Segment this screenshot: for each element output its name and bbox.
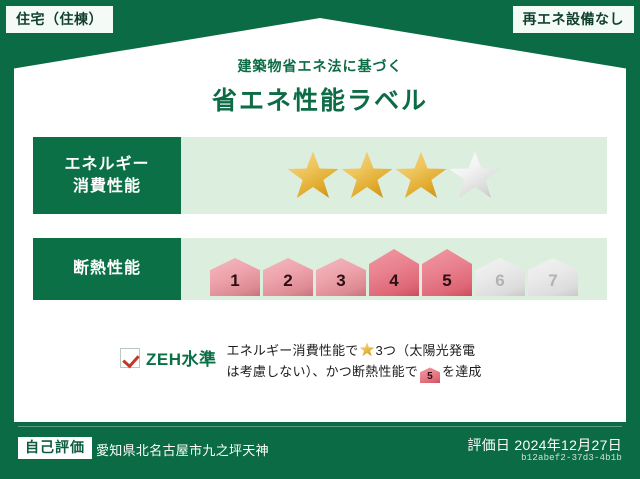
insulation-performance-row: 断熱性能 1 2 3 4 5 6 7 [33,238,607,300]
star-icon-4 [449,151,501,201]
house-icon-6: 6 [475,258,525,296]
energy-label-line1: エネルギー [64,154,149,176]
inline-house-icon: 5 [420,367,440,383]
insulation-performance-value: 1 2 3 4 5 6 7 [181,238,607,300]
insulation-performance-label: 断熱性能 [33,238,181,300]
energy-label-line2: 消費性能 [73,176,141,198]
footer-divider [18,426,622,427]
renewable-equipment-tag: 再エネ設備なし [513,6,635,33]
title-block: 建築物省エネ法に基づく 省エネ性能ラベル [0,56,640,117]
label-main-title: 省エネ性能ラベル [0,81,640,117]
self-evaluation-badge: 自己評価 [18,437,92,459]
zeh-desc-part3: は考慮しない）、かつ断熱性能で [227,364,419,379]
building-type-tag: 住宅（住棟） [6,6,113,33]
house-rating: 1 2 3 4 5 6 7 [210,249,578,296]
house-icon-5: 5 [422,249,472,296]
house-icon-2: 2 [263,258,313,296]
zeh-standard-block: ZEH水準 エネルギー消費性能で3つ（太陽光発電 は考慮しない）、かつ断熱性能で… [120,340,540,383]
house-icon-7: 7 [528,258,578,296]
insulation-label-text: 断熱性能 [73,258,141,280]
star-rating [287,151,501,201]
energy-consumption-row: エネルギー 消費性能 [33,137,607,214]
energy-consumption-value [181,137,607,214]
zeh-desc-part2: 3つ（太陽光発電 [376,343,476,358]
zeh-desc-part1: エネルギー消費性能で [227,343,359,358]
energy-consumption-label: エネルギー 消費性能 [33,137,181,214]
inline-star-icon [360,342,375,357]
house-icon-3: 3 [316,258,366,296]
house-icon-1: 1 [210,258,260,296]
star-icon-3 [395,151,447,201]
house-icon-4: 4 [369,249,419,296]
zeh-description: エネルギー消費性能で3つ（太陽光発電 は考慮しない）、かつ断熱性能で5を達成 [227,340,482,383]
star-icon-1 [287,151,339,201]
evaluation-id: b12abef2-37d3-4b1b [521,453,622,463]
zeh-badge: ZEH水準 [120,340,217,370]
label-subtitle: 建築物省エネ法に基づく [0,56,640,76]
zeh-label: ZEH水準 [146,345,217,370]
energy-performance-label: 住宅（住棟） 再エネ設備なし 建築物省エネ法に基づく 省エネ性能ラベル エネルギ… [0,0,640,479]
zeh-desc-part4: を達成 [442,364,482,379]
property-address: 愛知県北名古屋市九之坪天神 [96,440,269,459]
evaluation-date: 評価日 2024年12月27日 [467,435,622,455]
checkmark-icon [120,348,140,368]
star-icon-2 [341,151,393,201]
footer: 自己評価 愛知県北名古屋市九之坪天神 評価日 2024年12月27日 b12ab… [0,432,640,479]
